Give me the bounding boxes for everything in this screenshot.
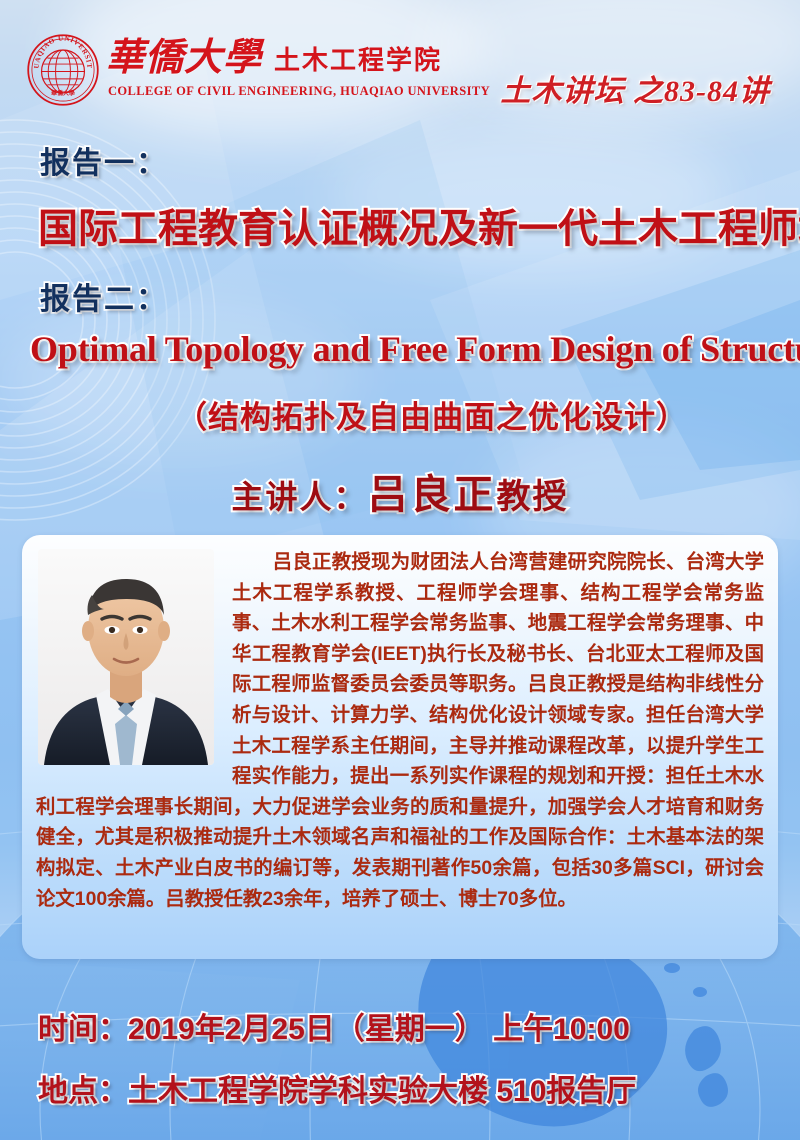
huaqiao-university-globe-emblem: HUAQIAO UNIVERSITY 華僑大學 bbox=[26, 33, 100, 107]
svg-text:華僑大學: 華僑大學 bbox=[51, 89, 75, 97]
university-name-en: COLLEGE OF CIVIL ENGINEERING, HUAQIAO UN… bbox=[108, 84, 490, 99]
speaker-title: 教授 bbox=[497, 478, 569, 516]
poster-header: HUAQIAO UNIVERSITY 華僑大學 華僑大學 土木工程学院 COLL… bbox=[0, 0, 800, 122]
college-name-cn: 土木工程学院 bbox=[274, 48, 442, 74]
event-location: 地点：土木工程学院学科实验大楼 510报告厅 bbox=[38, 1066, 636, 1110]
bio-text-portrait-wrap bbox=[36, 547, 232, 773]
speaker-line: 主讲人：吕良正教授 bbox=[0, 462, 800, 520]
speaker-prefix: 主讲人： bbox=[231, 479, 367, 515]
lecture-series-title: 土木讲坛 之83-84讲 bbox=[501, 66, 771, 110]
speaker-bio-text: 吕良正教授现为财团法人台湾营建研究院院长、台湾大学土木工程学系教授、工程师学会理… bbox=[36, 547, 764, 914]
university-name-group: 華僑大學 土木工程学院 COLLEGE OF CIVIL ENGINEERING… bbox=[106, 33, 490, 99]
talk2-title-cn: （结构拓扑及自由曲面之优化设计） bbox=[176, 392, 688, 437]
event-time: 时间：2019年2月25日（星期一） 上午10:00 bbox=[38, 1004, 630, 1048]
poster-root: HUAQIAO UNIVERSITY 華僑大學 華僑大學 土木工程学院 COLL… bbox=[0, 0, 800, 1140]
speaker-name: 吕良正 bbox=[368, 473, 497, 517]
speaker-bio-card: 吕良正教授现为财团法人台湾营建研究院院长、台湾大学土木工程学系教授、工程师学会理… bbox=[22, 535, 778, 959]
talk2-label: 报告二： bbox=[40, 274, 168, 318]
talk1-title: 国际工程教育认证概况及新一代土木工程师培育方式 bbox=[38, 196, 800, 254]
university-logo-block: HUAQIAO UNIVERSITY 華僑大學 華僑大學 土木工程学院 COLL… bbox=[26, 33, 490, 107]
university-name-cn: 華僑大學 bbox=[106, 39, 262, 77]
talk2-title-en: Optimal Topology and Free Form Design of… bbox=[30, 328, 800, 370]
talk1-label: 报告一： bbox=[40, 138, 168, 182]
